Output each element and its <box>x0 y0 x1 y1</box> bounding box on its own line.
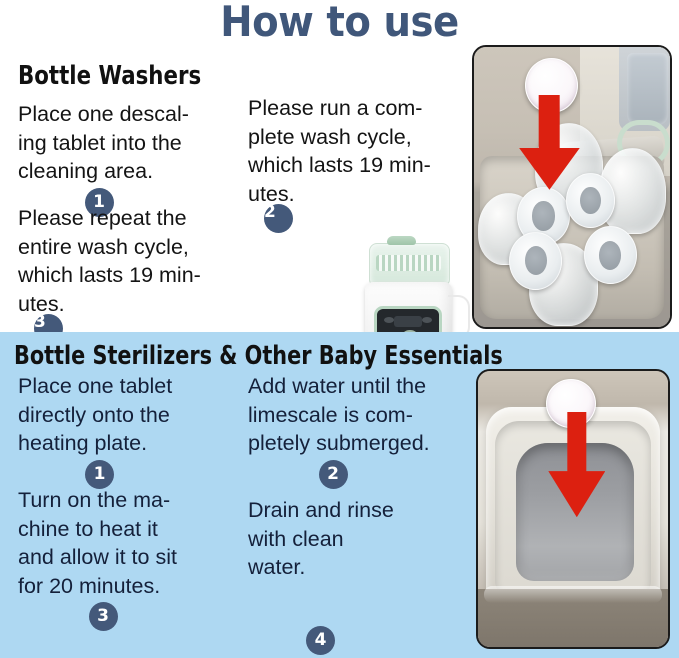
dishwasher-bottles-photo <box>472 45 672 329</box>
step-text: Please run a com- plete wash cycle, whic… <box>248 94 470 208</box>
step-text: Please repeat the entire wash cycle, whi… <box>18 204 238 318</box>
photo-nipple <box>584 226 637 284</box>
status-badge: 1 <box>85 460 114 489</box>
appliance-button <box>384 317 394 323</box>
status-badge: 2 <box>264 204 293 233</box>
photo-background <box>478 371 668 647</box>
page-title: How to use <box>27 0 652 46</box>
photo-background <box>474 47 670 327</box>
badge-row: 2 <box>248 460 470 489</box>
step-block-washers-2: Please run a com- plete wash cycle, whic… <box>248 94 470 237</box>
appliance-button <box>422 317 432 323</box>
arrow-head <box>548 471 605 517</box>
step-block-sterilizers-3: Turn on the ma- chine to heat it and all… <box>18 486 240 631</box>
step-block-sterilizers-2: Add water until the limescale is com- pl… <box>248 372 470 489</box>
appliance-lid <box>387 236 416 245</box>
photo-nipple <box>509 232 562 290</box>
badge-row: 3 <box>18 602 240 631</box>
status-badge: 3 <box>89 602 118 631</box>
step-text: Add water until the limescale is com- pl… <box>248 372 470 458</box>
appliance-display <box>394 316 422 327</box>
badge-row: 1 <box>18 460 233 489</box>
badge-row: 4 <box>248 626 448 655</box>
infographic-page: How to use Bottle Washers Place one desc… <box>0 0 679 658</box>
step-text: Drain and rinse with clean water. <box>248 496 448 582</box>
photo-highlight <box>484 586 663 603</box>
section-heading-bottle-sterilizers: Bottle Sterilizers & Other Baby Essentia… <box>14 342 503 370</box>
arrow-shaft <box>567 412 586 477</box>
arrow-head <box>519 148 580 190</box>
status-badge: 2 <box>319 460 348 489</box>
step-text: Turn on the ma- chine to heat it and all… <box>18 486 240 600</box>
sterilizer-heating-plate-photo <box>476 369 670 649</box>
step-block-sterilizers-1: Place one tablet directly onto the heati… <box>18 372 233 489</box>
down-arrow-icon <box>519 95 580 190</box>
arrow-shaft <box>539 95 560 154</box>
step-text: Place one tablet directly onto the heati… <box>18 372 233 458</box>
appliance-rack <box>376 255 441 271</box>
status-badge: 4 <box>306 626 335 655</box>
step-text: Place one descal- ing tablet into the cl… <box>18 100 232 186</box>
section-heading-bottle-washers: Bottle Washers <box>18 62 201 90</box>
step-block-washers-3: Please repeat the entire wash cycle, whi… <box>18 204 238 347</box>
down-arrow-icon <box>548 412 605 517</box>
photo-cup <box>627 53 668 126</box>
step-block-washers-1: Place one descal- ing tablet into the cl… <box>18 100 232 217</box>
step-block-sterilizers-4: Drain and rinse with clean water. 4 <box>248 496 448 655</box>
